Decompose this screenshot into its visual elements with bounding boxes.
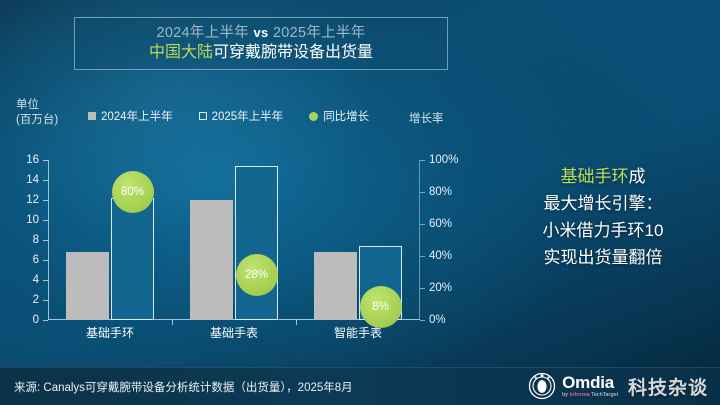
title-vs: vs (253, 25, 268, 40)
legend-item-growth[interactable]: 同比增长 (309, 108, 369, 124)
title-period-old: 2024年上半年 (156, 25, 249, 41)
left-axis-tick-label: 0 (33, 314, 39, 326)
title-line-2: 中国大陆可穿戴腕带设备出货量 (149, 43, 373, 63)
right-axis-tick (420, 224, 425, 225)
callout-text: 基础手环成 最大增长引擎： 小米借力手环10 实现出货量翻倍 (492, 163, 714, 271)
omdia-tagline: by informa TechTarget (562, 393, 618, 399)
left-axis-tick (43, 260, 48, 261)
left-axis-tick-label: 12 (26, 194, 39, 206)
left-axis-tick (43, 240, 48, 241)
callout-line1-rest: 成 (629, 167, 646, 186)
growth-bubble-智能手表[interactable]: 8% (360, 286, 402, 328)
left-axis-unit-line1: 单位 (16, 98, 58, 113)
callout-highlight: 基础手环 (561, 167, 629, 186)
x-axis-category-基础手表: 基础手表 (210, 324, 258, 341)
x-axis-tick (172, 320, 173, 325)
x-axis-tick (296, 320, 297, 325)
bar-2024-基础手环[interactable] (66, 252, 109, 320)
right-axis-tick-label: 60% (429, 218, 452, 230)
left-axis-unit-label: 单位 (百万台) (16, 98, 58, 128)
right-axis-tick (420, 320, 425, 321)
title-period-new: 2025年上半年 (273, 25, 366, 41)
right-axis-tick (420, 160, 425, 161)
slide-footer: 来源: Canalys可穿戴腕带设备分析统计数据（出货量），2025年8月 Om… (0, 367, 720, 405)
callout-line-4: 实现出货量翻倍 (492, 244, 714, 271)
left-axis-tick-label: 4 (33, 274, 39, 286)
right-axis-tick (420, 192, 425, 193)
omdia-logo-icon (528, 372, 556, 400)
left-axis-tick (43, 180, 48, 181)
left-axis-tick-label: 14 (26, 174, 39, 186)
omdia-tagline-brand: informa (569, 392, 589, 398)
left-axis-tick (43, 160, 48, 161)
callout-line-3: 小米借力手环10 (492, 217, 714, 244)
left-axis-tick (43, 320, 48, 321)
right-axis-tick (420, 288, 425, 289)
legend-label-growth: 同比增长 (323, 108, 369, 124)
omdia-name: Omdia (562, 374, 618, 391)
callout-line-1: 基础手环成 (492, 163, 714, 190)
omdia-wordmark: Omdia by informa TechTarget (562, 374, 618, 399)
left-axis-tick-label: 10 (26, 214, 39, 226)
bar-2024-基础手表[interactable] (190, 200, 233, 320)
brand-lockup: Omdia by informa TechTarget 科技杂谈 (528, 372, 708, 400)
chart-plot-area: 02468101214160%20%40%60%80%100%80%基础手环28… (48, 160, 420, 320)
slide-canvas: 2024年上半年 vs 2025年上半年 中国大陆可穿戴腕带设备出货量 单位 (… (0, 0, 720, 405)
chart-legend: 2024年上半年 2025年上半年 同比增长 (88, 108, 369, 124)
right-axis-tick-label: 40% (429, 250, 452, 262)
filled-square-icon (88, 112, 96, 120)
left-axis-line (48, 160, 49, 320)
growth-bubble-基础手表[interactable]: 28% (236, 254, 278, 296)
circle-icon (309, 112, 318, 121)
left-axis-tick-label: 6 (33, 254, 39, 266)
hollow-square-icon (199, 112, 207, 120)
source-note: 来源: Canalys可穿戴腕带设备分析统计数据（出货量），2025年8月 (14, 379, 353, 395)
bar-2025-基础手环[interactable] (111, 198, 154, 320)
title-region: 中国大陆 (149, 44, 213, 61)
x-axis-category-基础手环: 基础手环 (86, 324, 134, 341)
bar-2025-基础手表[interactable] (235, 166, 278, 320)
left-axis-tick (43, 220, 48, 221)
right-axis-tick (420, 256, 425, 257)
right-axis-tick-label: 80% (429, 186, 452, 198)
omdia-tagline-suffix: TechTarget (590, 392, 618, 398)
legend-item-2024[interactable]: 2024年上半年 (88, 108, 173, 124)
left-axis-tick (43, 300, 48, 301)
legend-item-2025[interactable]: 2025年上半年 (199, 108, 284, 124)
right-axis-tick-label: 100% (429, 154, 458, 166)
slide-title-box: 2024年上半年 vs 2025年上半年 中国大陆可穿戴腕带设备出货量 (74, 17, 448, 70)
callout-line-2: 最大增长引擎： (492, 190, 714, 217)
growth-bubble-基础手环[interactable]: 80% (112, 171, 154, 213)
channel-watermark: 科技杂谈 (628, 373, 708, 400)
left-axis-tick-label: 8 (33, 234, 39, 246)
bar-2024-智能手表[interactable] (314, 252, 357, 320)
title-subject: 可穿戴腕带设备出货量 (213, 44, 373, 61)
right-axis-tick-label: 20% (429, 282, 452, 294)
title-line-1: 2024年上半年 vs 2025年上半年 (156, 24, 365, 42)
left-axis-tick-label: 2 (33, 294, 39, 306)
left-axis-tick (43, 280, 48, 281)
right-axis-unit-label: 增长率 (409, 112, 444, 127)
left-axis-tick (43, 200, 48, 201)
right-axis-line (419, 160, 420, 320)
left-axis-tick-label: 16 (26, 154, 39, 166)
left-axis-unit-line2: (百万台) (16, 113, 58, 128)
legend-label-2024: 2024年上半年 (101, 108, 173, 124)
legend-label-2025: 2025年上半年 (212, 108, 284, 124)
right-axis-tick-label: 0% (429, 314, 446, 326)
